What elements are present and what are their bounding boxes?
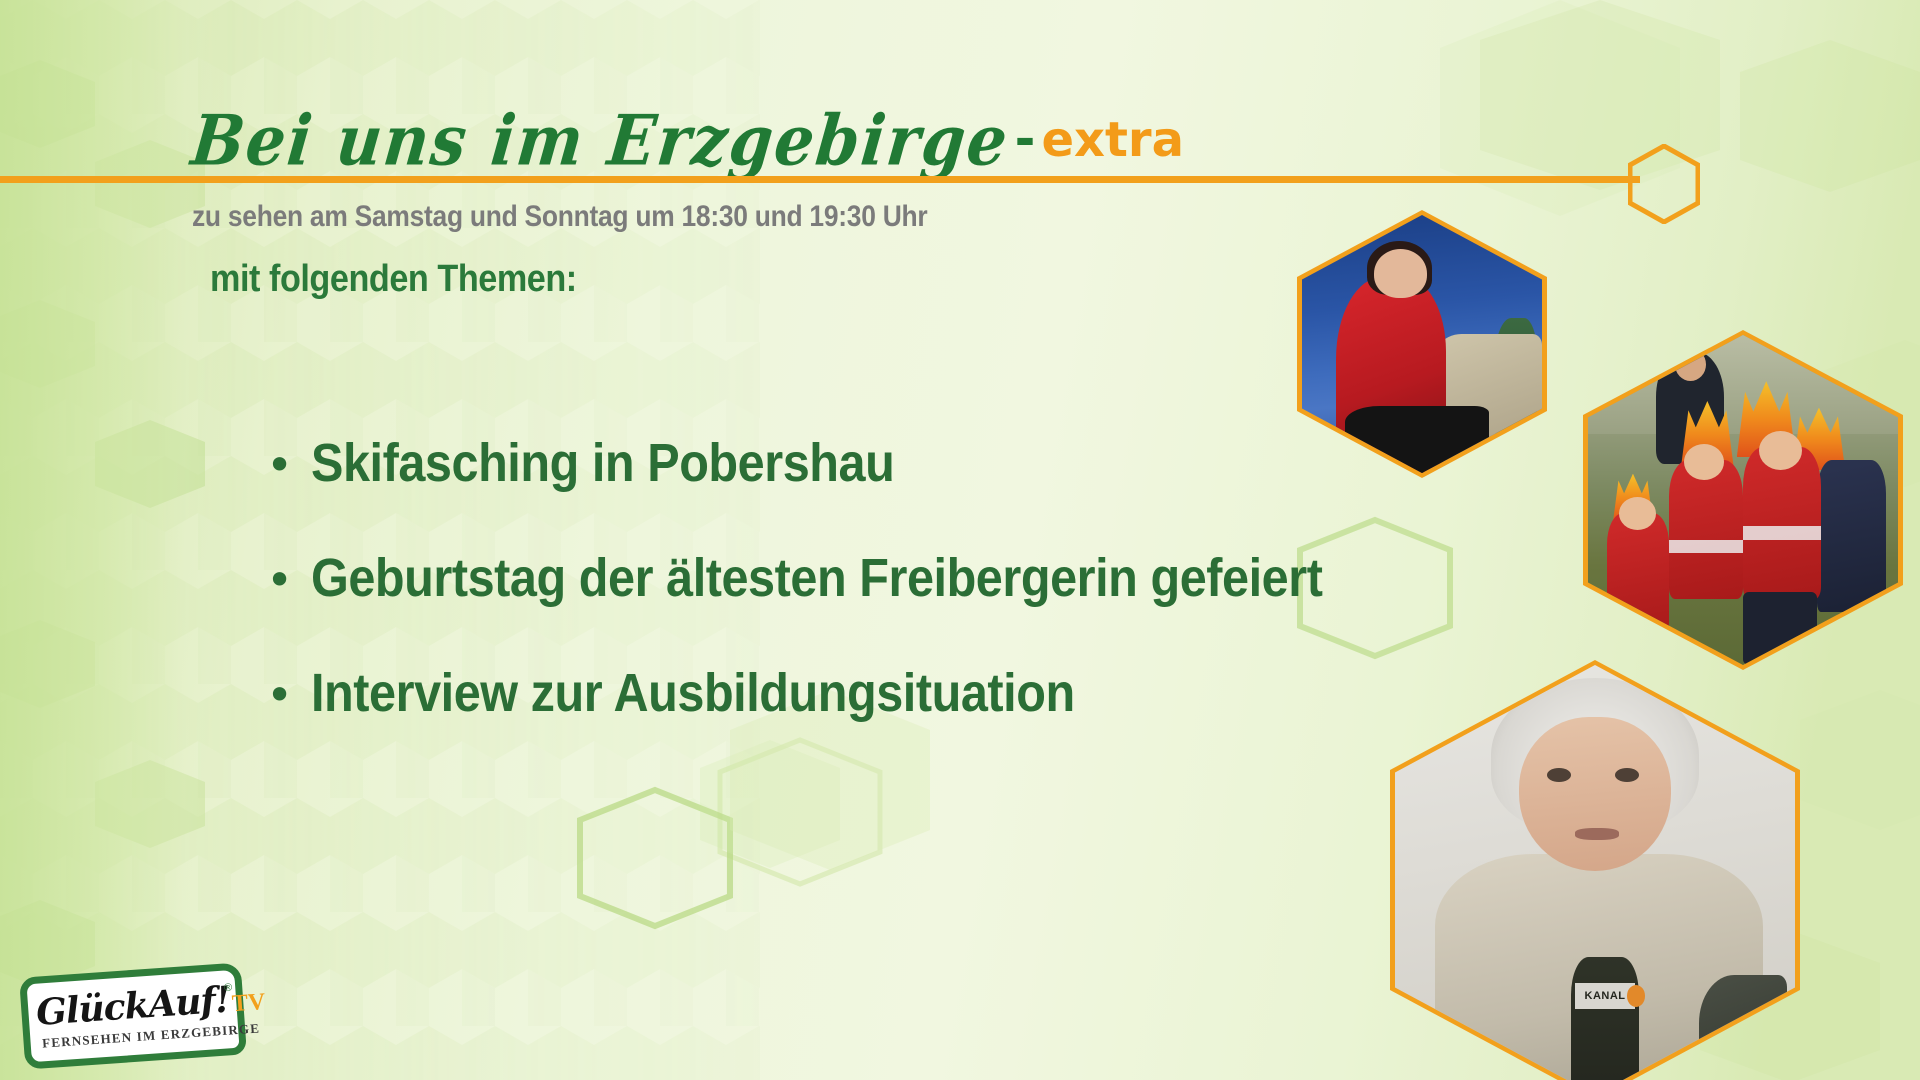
reflective-stripe [1669,540,1743,553]
photo-image [1588,335,1898,665]
program-slide: Programm Bei uns im Erzgebirge-extra zu … [0,0,1920,1080]
list-item: • Geburtstag der ältesten Freibergerin g… [266,547,1586,609]
list-item: • Interview zur Ausbildungsituation [266,662,1586,724]
topic-label: Interview zur Ausbildungsituation [311,662,1075,724]
microphone-logo-dot [1627,985,1645,1007]
child-head [1759,431,1802,471]
person-face [1519,717,1671,872]
bullet-icon: • [266,672,293,718]
child-figure [1817,460,1885,612]
hexagon-rule-endcap-icon [1628,144,1700,224]
bullet-icon: • [266,557,293,603]
microphone-channel-label: KANAL [1575,983,1635,1009]
topic-label: Geburtstag der ältesten Freibergerin gef… [311,547,1322,609]
title-extra-badge: extra [1041,112,1184,168]
title-main-text: Bei uns im Erzgebirge [188,100,1013,182]
topic-label: Skifasching in Pobershau [311,432,894,494]
title-dash: - [1009,110,1042,168]
child-trousers [1743,592,1817,665]
orange-divider-rule [0,176,1640,183]
logo-tv-text: TV [231,989,266,1017]
eye-right [1615,768,1639,782]
topics-list: • Skifasching in Pobershau • Geburtstag … [266,432,1586,777]
mouth [1575,828,1619,839]
child-figure [1669,460,1743,599]
photo-clip [1588,335,1898,665]
registered-trademark-icon: ® [223,982,232,995]
topics-intro-label: mit folgenden Themen: [210,258,577,301]
adult-head [1675,348,1706,381]
broadcast-times-subtitle: zu sehen am Samstag und Sonntag um 18:30… [192,200,927,234]
child-figure [1607,513,1669,632]
hexagon-photo-children-flame-crowns [1583,330,1903,670]
channel-logo[interactable]: GlückAuf!TV ® FERNSEHEN IM ERZGEBIRGE [22,970,244,1062]
bullet-icon: • [266,442,293,488]
child-head [1619,497,1656,530]
interviewer-arm [1699,975,1787,1080]
microphone-icon [1571,957,1639,1080]
eye-left [1547,768,1571,782]
reflective-stripe [1743,526,1821,539]
person-head [1374,249,1427,298]
page-title: Bei uns im Erzgebirge-extra [192,104,1184,177]
